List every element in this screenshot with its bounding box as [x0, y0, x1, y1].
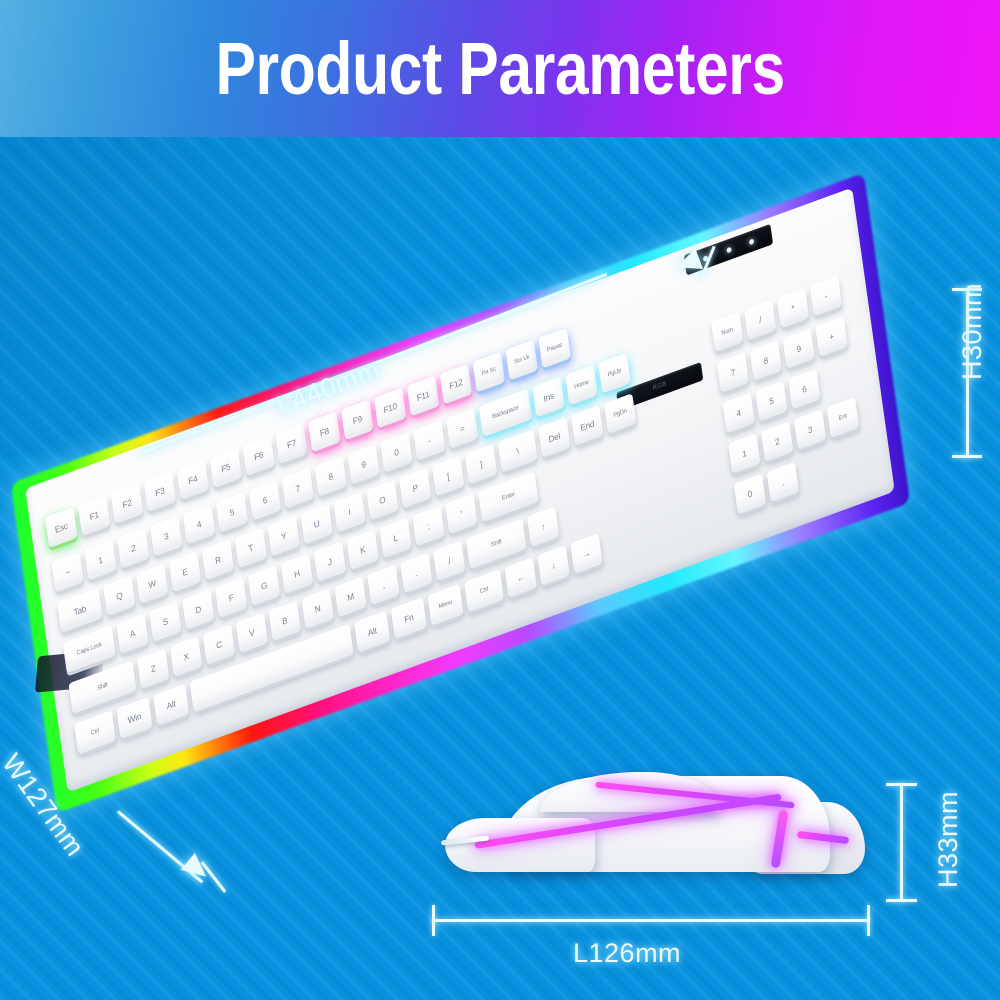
measure-tick-h33-top	[886, 783, 917, 786]
page-title-text: Product Parameters	[215, 32, 784, 106]
header-banner: Product Parameters	[0, 0, 1000, 137]
measure-tick-l126-right	[867, 905, 870, 936]
measure-tick-h30-bottom	[952, 455, 982, 458]
measure-label-h30: H30mm	[957, 283, 988, 380]
measure-line-l126	[432, 919, 870, 922]
measure-label-l126: L126mm	[573, 938, 681, 969]
measure-label-h33: H33mm	[933, 791, 964, 888]
measure-line-h33	[900, 783, 903, 902]
product-parameters-image: Product Parameters RGB EscF1F2F3F4F5F6F7…	[0, 0, 1000, 1000]
page-title: Product Parameters	[0, 32, 1000, 106]
measure-tick-l126-left	[432, 905, 435, 936]
measure-tick-h33-bottom	[886, 899, 917, 902]
mouse-body	[445, 772, 865, 880]
mouse-illustration	[425, 760, 885, 900]
